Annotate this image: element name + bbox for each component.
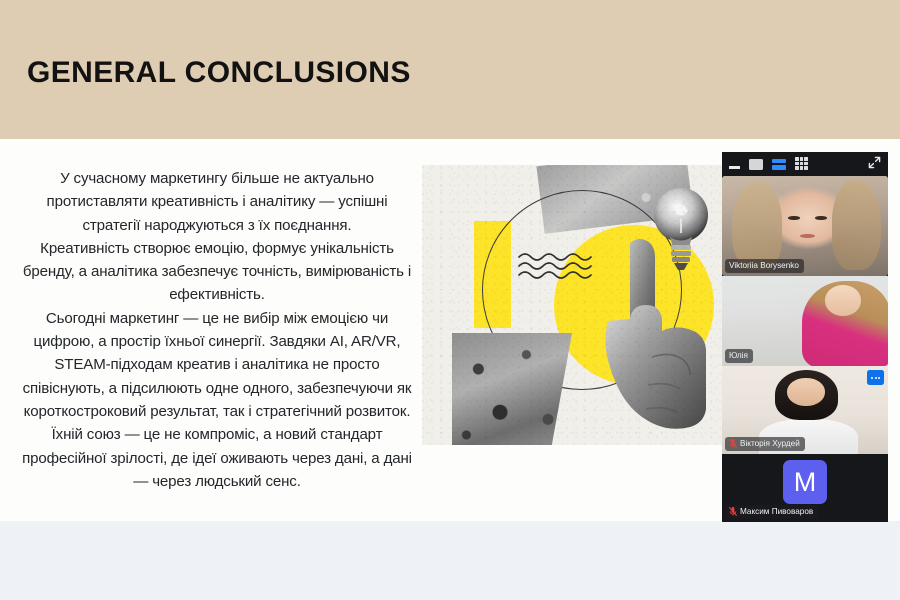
collage-illustration: [422, 165, 722, 445]
participant-name-4: Максим Пивоваров: [740, 506, 813, 517]
single-view-icon[interactable]: [749, 159, 763, 170]
paragraph-3: Сьогодні маркетинг — це не вибір між емо…: [18, 307, 416, 423]
nameplate-1: Viktoriia Borysenko: [725, 259, 804, 273]
zoom-toolbar: [722, 152, 888, 176]
participant-name-1: Viktoriia Borysenko: [729, 260, 799, 271]
paragraph-2: Креативність створює емоцію, формує унік…: [18, 237, 416, 307]
mic-muted-icon: [729, 507, 737, 516]
participant-tile-4[interactable]: M Максим Пивоваров: [722, 454, 888, 522]
participant-tiles: Viktoriia Borysenko Юлія: [722, 176, 888, 522]
nameplate-3: Вікторія Хурдей: [725, 437, 805, 451]
mic-muted-icon: [729, 439, 737, 448]
wavy-lines-icon: [517, 251, 595, 281]
light-bulb-photo: [650, 185, 712, 275]
page-title: GENERAL CONCLUSIONS: [27, 56, 411, 90]
nameplate-2: Юлія: [725, 349, 753, 363]
paragraph-1: У сучасному маркетингу більше не актуаль…: [18, 167, 416, 237]
minimize-icon[interactable]: [729, 166, 740, 169]
avatar: M: [783, 460, 827, 504]
zoom-video-panel[interactable]: Viktoriia Borysenko Юлія: [722, 152, 888, 522]
nameplate-4: Максим Пивоваров: [725, 505, 818, 519]
texture-patch-photo: [452, 333, 572, 445]
split-view-icon[interactable]: [772, 159, 786, 170]
participant-tile-1[interactable]: Viktoriia Borysenko: [722, 176, 888, 276]
grid-view-icon[interactable]: [795, 157, 808, 170]
participant-tile-3[interactable]: Вікторія Хурдей: [722, 366, 888, 454]
more-options-button[interactable]: [867, 370, 884, 385]
screen-root: GENERAL CONCLUSIONS У сучасному маркетин…: [0, 0, 900, 600]
expand-icon[interactable]: [868, 156, 881, 169]
participant-name-2: Юлія: [729, 350, 748, 361]
slide-body-text: У сучасному маркетингу більше не актуаль…: [18, 167, 416, 493]
paragraph-4: Їхній союз — це не компроміс, а новий ст…: [18, 423, 416, 493]
participant-tile-2[interactable]: Юлія: [722, 276, 888, 366]
participant-name-3: Вікторія Хурдей: [740, 438, 800, 449]
